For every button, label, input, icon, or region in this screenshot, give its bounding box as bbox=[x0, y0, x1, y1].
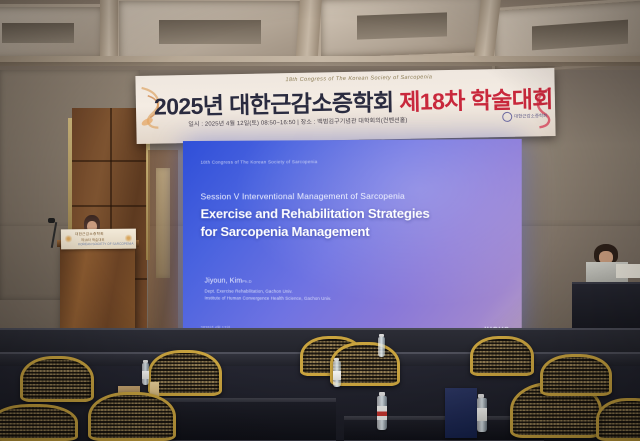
ceiling bbox=[0, 0, 640, 78]
slide-title-line2: for Sarcopenia Management bbox=[201, 223, 430, 241]
placard-line-3: KOREAN SOCIETY OF SARCOPENIA bbox=[78, 242, 133, 247]
sponsor-logo-text: 대한근감소증학회 bbox=[514, 113, 547, 120]
slide-speaker: Jiyoun, KimPh.D bbox=[204, 278, 251, 285]
slide-header: 18th Congress of The Korean Society of S… bbox=[201, 159, 318, 165]
slide-affiliation-2: Institute of Human Convergence Health Sc… bbox=[204, 295, 331, 300]
conference-hall-photo: 18th Congress of The Korean Society of S… bbox=[0, 0, 640, 441]
water-bottle[interactable] bbox=[378, 337, 385, 357]
chair[interactable] bbox=[148, 350, 222, 396]
bottle-label bbox=[377, 406, 387, 420]
bottle-label bbox=[142, 371, 149, 379]
microphone-head-icon bbox=[48, 218, 55, 223]
gift-box[interactable] bbox=[445, 388, 477, 438]
slide-affiliation-1: Dept. Exercise Rehabilitation, Gachon Un… bbox=[204, 289, 292, 294]
slide-speaker-name: Jiyoun, Kim bbox=[204, 278, 242, 285]
chair[interactable] bbox=[20, 356, 94, 402]
slide-session-label: Session V Interventional Management of S… bbox=[201, 191, 405, 202]
chair[interactable] bbox=[88, 392, 176, 441]
slide-title-line1: Exercise and Rehabilitation Strategies bbox=[201, 205, 430, 223]
placard-ornament-left-icon bbox=[65, 234, 72, 243]
chair[interactable] bbox=[470, 336, 534, 376]
slide-speaker-degree: Ph.D bbox=[242, 279, 252, 284]
wall-light-strip bbox=[156, 168, 170, 278]
projection-screen-slide: 18th Congress of The Korean Society of S… bbox=[183, 139, 522, 341]
attendee-papers bbox=[616, 264, 640, 278]
sponsor-mark-icon bbox=[502, 111, 512, 121]
chair[interactable] bbox=[596, 398, 640, 441]
conference-banner: 18th Congress of The Korean Society of S… bbox=[135, 68, 555, 144]
placard-line-1: 대한근감소증학회 bbox=[75, 231, 104, 236]
podium-placard: 대한근감소증학회 제18차 학술대회 KOREAN SOCIETY OF SAR… bbox=[61, 229, 136, 250]
bottle-label bbox=[333, 371, 341, 380]
bottle-label bbox=[477, 408, 487, 421]
banner-sponsor-logo: 대한근감소증학회 bbox=[502, 111, 547, 121]
chair[interactable] bbox=[540, 354, 612, 396]
slide-title: Exercise and Rehabilitation Strategies f… bbox=[201, 205, 430, 241]
chair[interactable] bbox=[0, 404, 78, 441]
